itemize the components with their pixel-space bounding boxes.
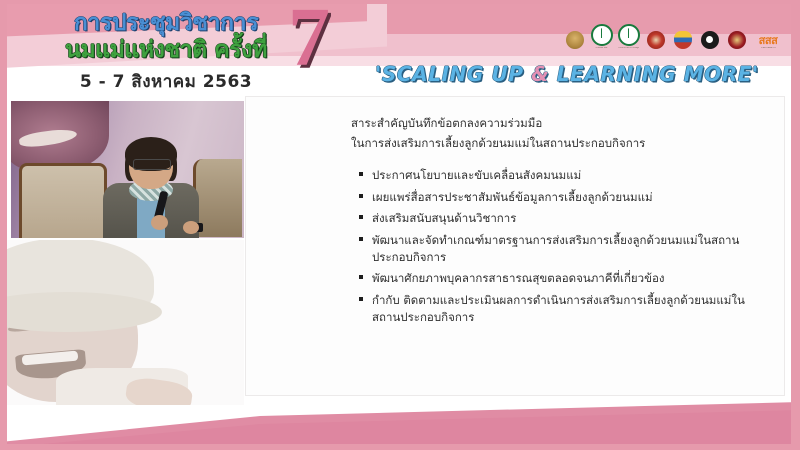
- conference-date: 5 - 7 สิงหาคม 2563: [21, 68, 311, 90]
- sss-foundation-logo-wordmark: สสส: [759, 35, 778, 46]
- thai-gold-figure-logo: [564, 24, 585, 50]
- content-heading-line2: ในการส่งเสริมการเลี้ยงลูกด้วยนมแม่ในสถาน…: [351, 133, 751, 153]
- green-medical-circle-logo-2: กระทรวงสาธารณสุข: [618, 24, 639, 50]
- slide-frame-left: [0, 0, 7, 450]
- green-medical-circle-logo-1-caption: กรมอนามัย: [591, 47, 612, 50]
- sponsor-logo-row: กรมอนามัยกระทรวงสาธารณสุขสสสTHAI HEALTH: [564, 24, 783, 50]
- green-medical-circle-logo-2-caption: กระทรวงสาธารณสุข: [618, 47, 639, 50]
- speaker-hand-mic: [151, 215, 168, 230]
- conference-title-line2: นมแม่แห่งชาติ ครั้งที่: [21, 39, 311, 62]
- content-bullet-list: ประกาศนโยบายและขับเคลื่อนสังคมนมแม่เผยแพ…: [359, 167, 759, 330]
- slide-frame-top: [0, 0, 800, 4]
- green-medical-circle-logo-1-mark: [591, 24, 613, 46]
- tagline-ampersand: &: [531, 62, 549, 86]
- speaker-video-thumbnail[interactable]: [11, 101, 244, 238]
- royal-multicolor-crest-logo: [672, 24, 693, 50]
- tagline-suffix: LEARNING MORE': [549, 62, 759, 86]
- bullet-item: ประกาศนโยบายและขับเคลื่อนสังคมนมแม่: [359, 167, 759, 184]
- bullet-item: ส่งเสริมสนับสนุนด้านวิชาการ: [359, 210, 759, 227]
- bullet-item: เผยแพร่สื่อสารประชาสัมพันธ์ข้อมูลการเลี้…: [359, 189, 759, 206]
- green-medical-circle-logo-2-mark: [618, 24, 640, 46]
- green-medical-circle-logo-1: กรมอนามัย: [591, 24, 612, 50]
- slide-frame-bottom: [0, 444, 800, 450]
- conference-title-line1: การประชุมวิชาการ: [21, 6, 311, 35]
- slide-content-panel: สาระสำคัญบันทึกข้อตกลงความร่วมมือ ในการส…: [245, 96, 785, 396]
- conference-edition-number: 7: [288, 4, 330, 80]
- sss-foundation-logo: สสสTHAI HEALTH: [753, 24, 783, 50]
- red-royal-emblem-logo-mark: [647, 31, 665, 49]
- sss-foundation-logo-caption: THAI HEALTH: [758, 47, 779, 50]
- thai-gold-figure-logo-mark: [566, 31, 584, 49]
- speaker-hand-remote: [183, 221, 199, 234]
- content-heading-line1: สาระสำคัญบันทึกข้อตกลงความร่วมมือ: [351, 113, 751, 133]
- chair-left: [19, 163, 107, 238]
- royal-multicolor-crest-logo-mark: [674, 31, 692, 49]
- sss-foundation-logo-mark: สสส: [759, 35, 778, 46]
- dark-red-crest-logo: [726, 24, 747, 50]
- red-royal-emblem-logo: [645, 24, 666, 50]
- content-heading: สาระสำคัญบันทึกข้อตกลงความร่วมมือ ในการส…: [351, 113, 751, 153]
- slide-header: การประชุมวิชาการ นมแม่แห่งชาติ ครั้งที่ …: [7, 4, 791, 90]
- dark-red-crest-logo-mark: [728, 31, 746, 49]
- conference-tagline: 'SCALING UP & LEARNING MORE': [337, 62, 791, 86]
- presentation-slide: สาระสำคัญบันทึกข้อตกลงความร่วมมือ ในการส…: [0, 0, 800, 450]
- speaker-figure: [103, 139, 199, 238]
- slide-frame-right: [791, 0, 800, 450]
- black-circle-emblem-logo: [699, 24, 720, 50]
- bullet-item: พัฒนาและจัดทำเกณฑ์มาตรฐานการส่งเสริมการเ…: [359, 232, 759, 265]
- speaker-glasses: [133, 159, 171, 170]
- black-circle-emblem-logo-mark: [701, 31, 719, 49]
- tagline-prefix: 'SCALING UP: [375, 62, 531, 86]
- conference-title-block: การประชุมวิชาการ นมแม่แห่งชาติ ครั้งที่ …: [21, 6, 311, 90]
- bullet-item: กำกับ ติดตามและประเมินผลการดำเนินการส่งเ…: [359, 292, 759, 325]
- bullet-item: พัฒนาศักยภาพบุคลากรสาธารณสุขตลอดจนภาคีที…: [359, 270, 759, 287]
- smiling-child-photo: [0, 240, 244, 405]
